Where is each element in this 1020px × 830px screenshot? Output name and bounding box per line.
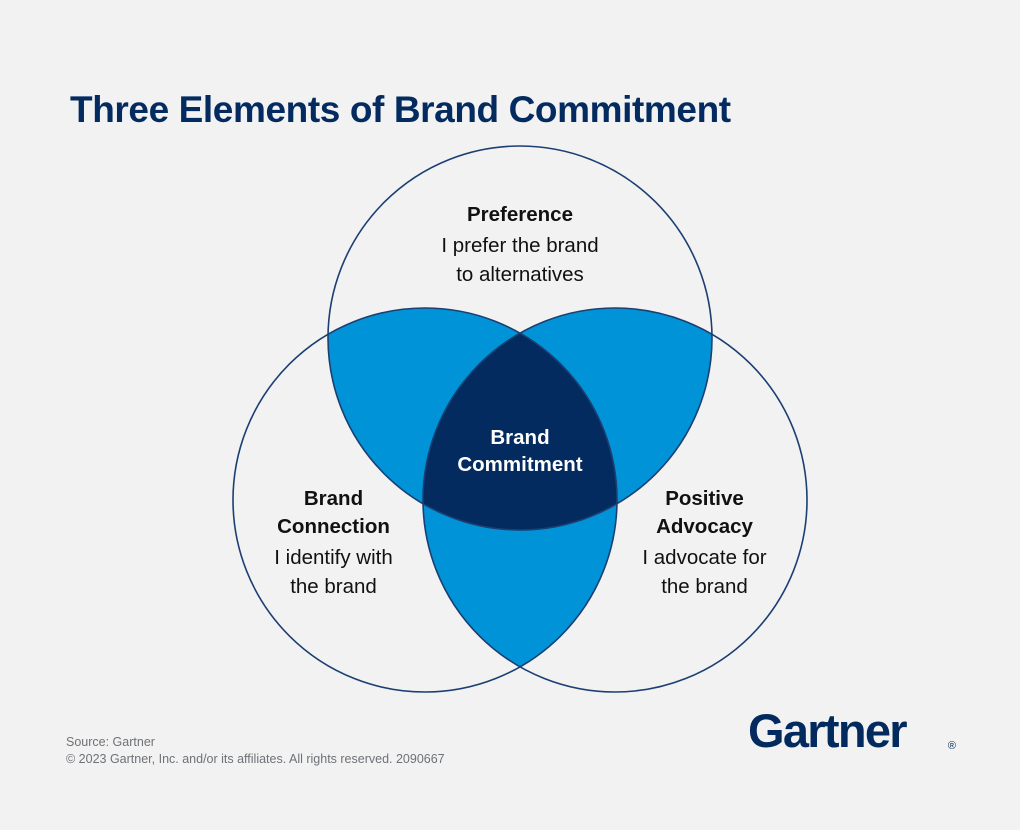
footer-attribution: Source: Gartner © 2023 Gartner, Inc. and… bbox=[66, 734, 445, 768]
gartner-logo-text: Gartner bbox=[748, 704, 906, 757]
infographic-page: Three Elements of Brand Commitment bbox=[0, 0, 1020, 830]
venn-label-positive-advocacy-title: Positive Advocacy bbox=[608, 485, 801, 541]
venn-label-positive-advocacy: Positive Advocacy I advocate for the bra… bbox=[608, 485, 801, 601]
venn-label-brand-connection: Brand Connection I identify with the bra… bbox=[237, 485, 430, 601]
gartner-logo: Gartner ® bbox=[748, 706, 954, 756]
registered-trademark-icon: ® bbox=[948, 740, 956, 752]
venn-label-preference-description: I prefer the brand to alternatives bbox=[420, 231, 620, 289]
venn-label-brand-connection-description: I identify with the brand bbox=[237, 543, 430, 601]
venn-label-preference: Preference I prefer the brand to alterna… bbox=[420, 201, 620, 289]
footer-source-line: Source: Gartner bbox=[66, 734, 445, 751]
venn-label-brand-connection-title: Brand Connection bbox=[237, 485, 430, 541]
venn-label-preference-title: Preference bbox=[420, 201, 620, 229]
venn-label-brand-commitment-title: Brand Commitment bbox=[435, 424, 605, 478]
venn-label-brand-commitment: Brand Commitment bbox=[435, 424, 605, 478]
venn-label-positive-advocacy-description: I advocate for the brand bbox=[608, 543, 801, 601]
footer-copyright-line: © 2023 Gartner, Inc. and/or its affiliat… bbox=[66, 751, 445, 768]
